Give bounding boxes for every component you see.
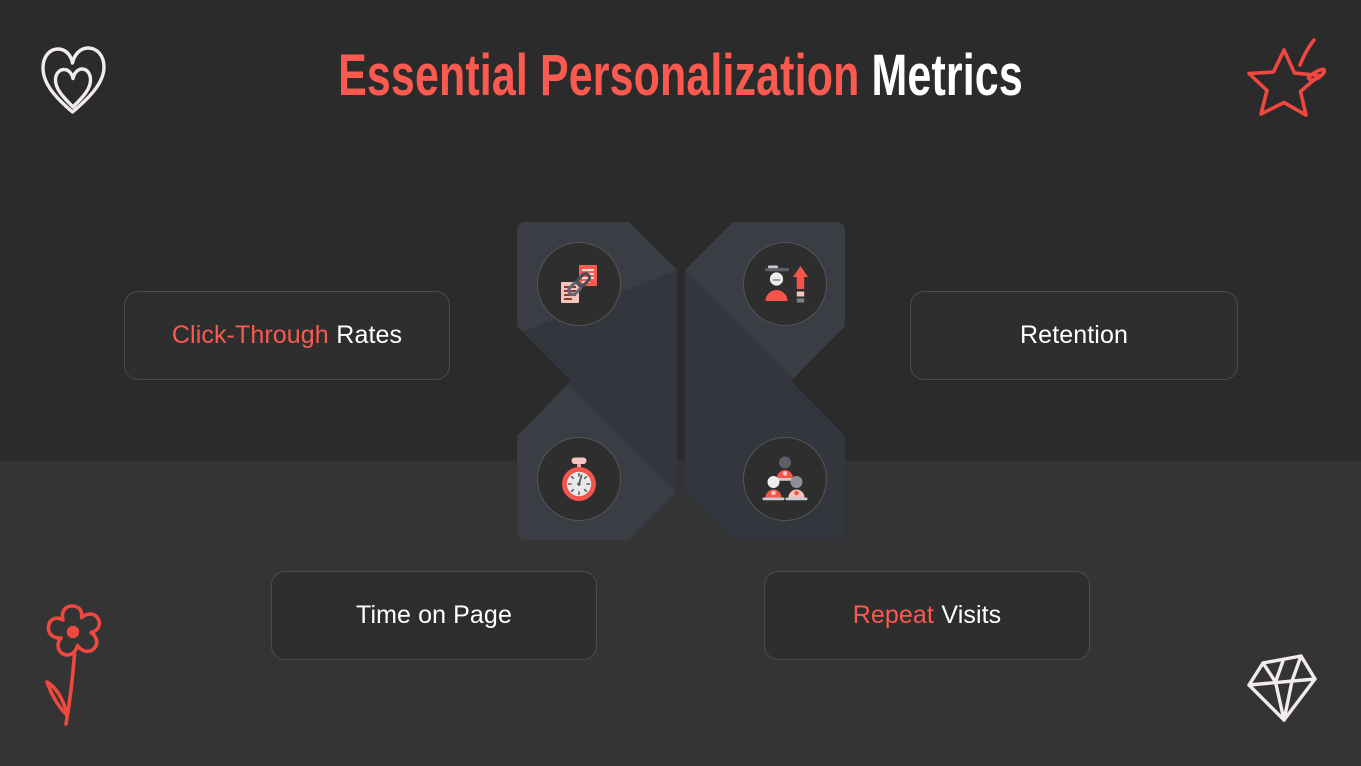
people-laptops-icon — [759, 453, 811, 505]
slide-canvas: Essential Personalization Metrics — [0, 0, 1361, 766]
metric-label-plain: Rates — [336, 321, 402, 350]
shooting-star-icon — [1240, 28, 1326, 120]
flower-icon — [34, 596, 118, 728]
page-title: Essential Personalization Metrics — [177, 46, 1184, 107]
metric-label-plain: Retention — [1020, 321, 1128, 350]
metric-card-repeat-visits[interactable]: Repeat Visits — [764, 571, 1090, 660]
metric-card-click-through-rates[interactable]: Click-Through Rates — [124, 291, 450, 380]
link-documents-icon — [553, 258, 605, 310]
metric-label-plain: Time on Page — [356, 601, 512, 630]
icon-bubble-retention — [743, 242, 827, 326]
stopwatch-icon — [553, 453, 605, 505]
metric-label-accent: Click-Through — [172, 321, 329, 350]
person-growth-arrow-icon — [759, 258, 811, 310]
double-heart-icon — [38, 34, 108, 118]
icon-bubble-time-on-page — [537, 437, 621, 521]
page-title-accent: Essential Personalization — [338, 43, 859, 108]
icon-bubble-repeat-visits — [743, 437, 827, 521]
page-title-plain: Metrics — [872, 43, 1023, 108]
metric-label-accent: Repeat — [853, 601, 934, 630]
metric-card-retention[interactable]: Retention — [910, 291, 1238, 380]
diamond-icon — [1242, 646, 1322, 728]
metric-label-plain: Visits — [941, 601, 1001, 630]
metric-card-time-on-page[interactable]: Time on Page — [271, 571, 597, 660]
icon-bubble-click-through-rates — [537, 242, 621, 326]
